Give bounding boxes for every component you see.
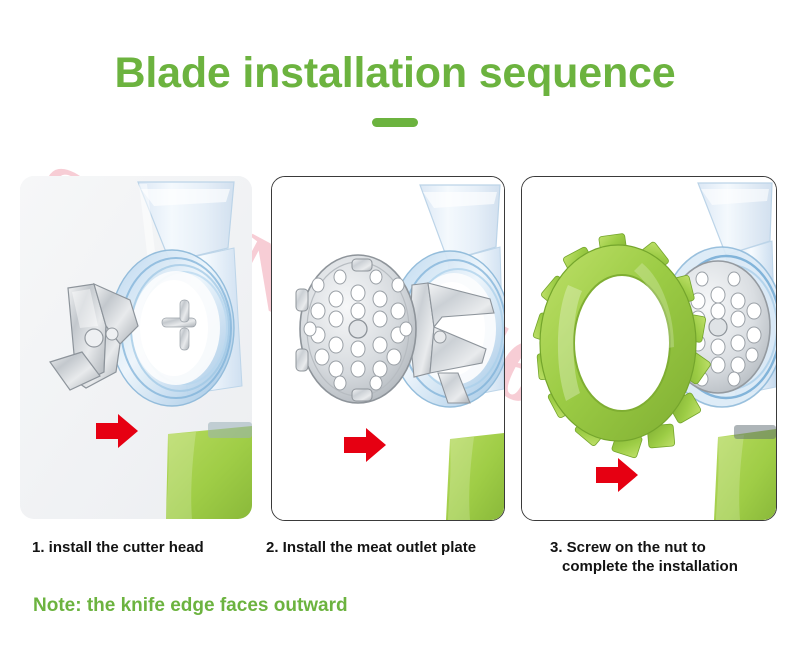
divider-wrap — [0, 118, 790, 127]
caption-step-3: 3. Screw on the nut to complete the inst… — [550, 538, 782, 576]
panel-cutter-head — [20, 176, 252, 519]
caption-step-1: 1. install the cutter head — [32, 538, 257, 557]
panel-outlet-plate — [271, 176, 505, 521]
step-panels — [0, 176, 790, 521]
panel-ring-nut — [521, 176, 777, 521]
page-title: Blade installation sequence — [0, 52, 790, 95]
note-text: Note: the knife edge faces outward — [33, 595, 348, 617]
caption-step-2: 2. Install the meat outlet plate — [266, 538, 526, 557]
header: Blade installation sequence — [0, 0, 790, 127]
caption-step-3-line-1: 3. Screw on the nut to — [550, 539, 706, 556]
caption-step-3-line-2: complete the installation — [550, 557, 782, 576]
title-divider — [372, 118, 418, 127]
